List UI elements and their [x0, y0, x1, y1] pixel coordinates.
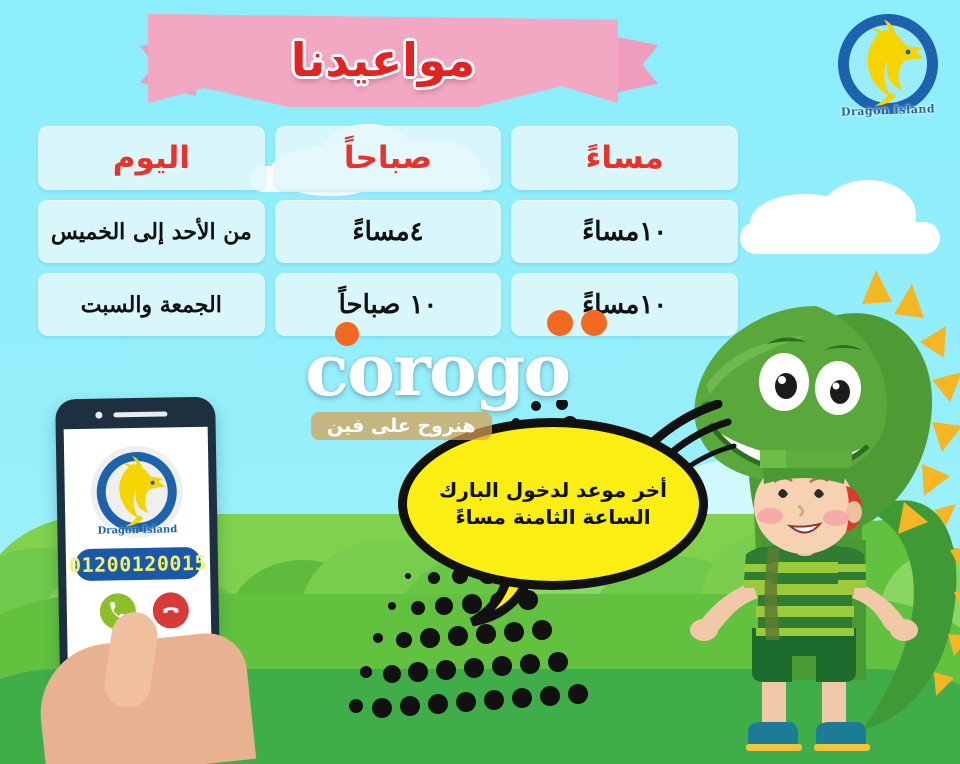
notice-speech-bubble: أخر موعد لدخول البارك الساعة الثامنة مسا… [398, 418, 708, 590]
schedule-header-row: مساءً صباحاً اليوم [38, 126, 738, 190]
poster-canvas: مواعيدنا Dragon Island مساءً صباحاً اليو… [0, 0, 960, 764]
page-title: مواعيدنا [148, 12, 618, 107]
watermark-dot-2 [547, 310, 573, 336]
header-cell-evening: مساءً [511, 126, 738, 190]
watermark-dot-3 [581, 310, 607, 336]
phone-camera-icon [95, 412, 102, 419]
phone-hangup-icon [161, 600, 181, 620]
schedule-table: مساءً صباحاً اليوم ١٠مساءً ٤مساءً من الأ… [38, 126, 738, 336]
notice-line-2: الساعة الثامنة مساءً [455, 504, 650, 531]
row1-day-value: من الأحد إلى الخميس [51, 219, 252, 245]
phone-number[interactable]: 01200120015 [75, 547, 202, 581]
header-cell-morning: صباحاً [275, 126, 502, 190]
header-day-label: اليوم [113, 140, 190, 176]
row1-evening-value: ١٠مساءً [582, 217, 667, 247]
row1-morning-value: ٤مساءً [352, 217, 423, 247]
phone-speaker [113, 411, 167, 417]
watermark-tagline: هنروح على فين [311, 412, 492, 440]
decline-call-button[interactable] [153, 592, 190, 629]
dragon-island-logo: Dragon Island [832, 8, 944, 120]
phone-logo-label: Dragon Island [91, 524, 183, 537]
schedule-row-weekdays: ١٠مساءً ٤مساءً من الأحد إلى الخميس [38, 200, 738, 263]
phone-logo: Dragon Island [90, 445, 184, 539]
header-evening-label: مساءً [586, 140, 664, 176]
row1-morning-cell: ٤مساءً [275, 200, 502, 263]
row2-day-cell: الجمعة والسبت [38, 273, 265, 336]
watermark-dot-1 [335, 322, 359, 346]
row2-day-value: الجمعة والسبت [81, 292, 222, 318]
corogo-watermark: corogo هنروح على فين [305, 336, 569, 404]
watermark-brand: corogo [305, 336, 569, 404]
row2-morning-value: ١٠ صباحاً [339, 290, 438, 320]
header-morning-label: صباحاً [344, 140, 432, 176]
row1-day-cell: من الأحد إلى الخميس [38, 200, 265, 263]
header-cell-day: اليوم [38, 126, 265, 190]
notice-line-1: أخر موعد لدخول البارك [439, 477, 667, 504]
